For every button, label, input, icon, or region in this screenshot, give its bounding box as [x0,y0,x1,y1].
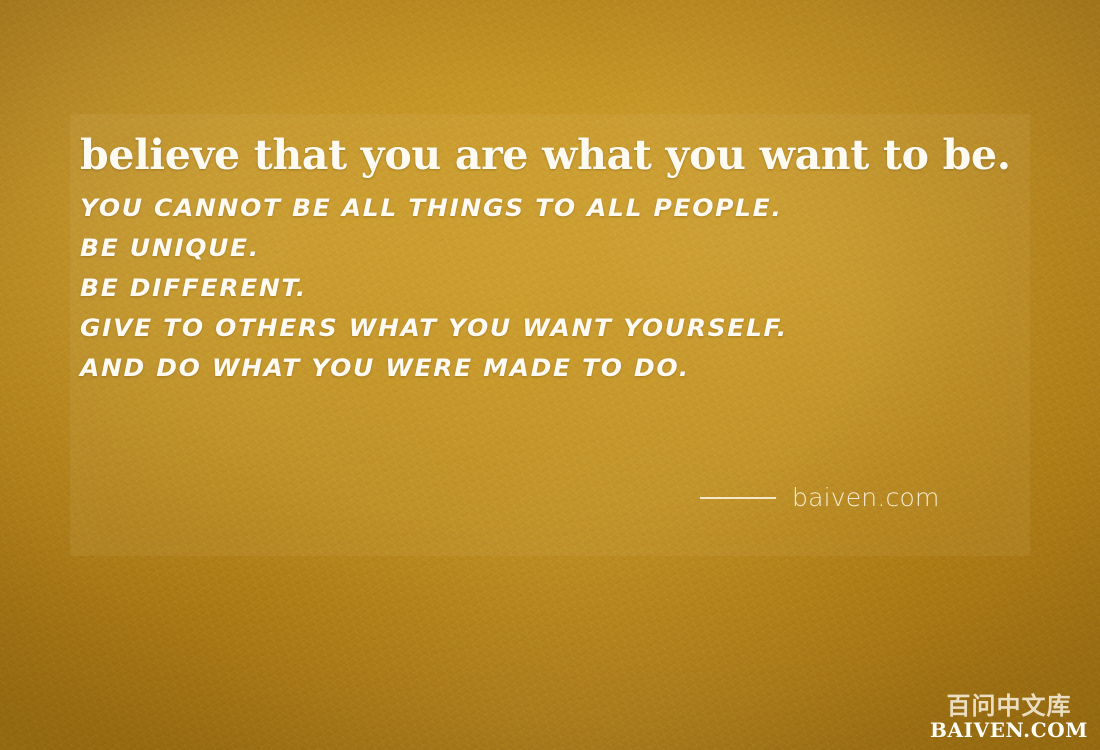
quote-body-lines: YOU CANNOT BE ALL THINGS TO ALL PEOPLE. … [80,188,1040,388]
quote-body-line: AND DO WHAT YOU WERE MADE TO DO. [80,348,1078,388]
watermark: 百问中文库 BAIVEN.COM [930,693,1088,742]
attribution-source: baiven.com [792,484,940,512]
quote-body-line: YOU CANNOT BE ALL THINGS TO ALL PEOPLE. [80,188,1078,228]
quote-headline: believe that you are what you want to be… [80,130,1040,180]
em-dash-rule-icon [700,497,776,499]
watermark-latin-label: BAIVEN.COM [930,719,1088,742]
quote-text-block: believe that you are what you want to be… [80,130,1040,388]
watermark-chinese-label: 百问中文库 [930,693,1088,719]
quote-body-line: BE UNIQUE. [80,228,1078,268]
quote-body-line: GIVE TO OTHERS WHAT YOU WANT YOURSELF. [80,308,1078,348]
quote-body-line: BE DIFFERENT. [80,268,1078,308]
quote-poster: believe that you are what you want to be… [0,0,1100,750]
attribution: baiven.com [700,484,940,512]
